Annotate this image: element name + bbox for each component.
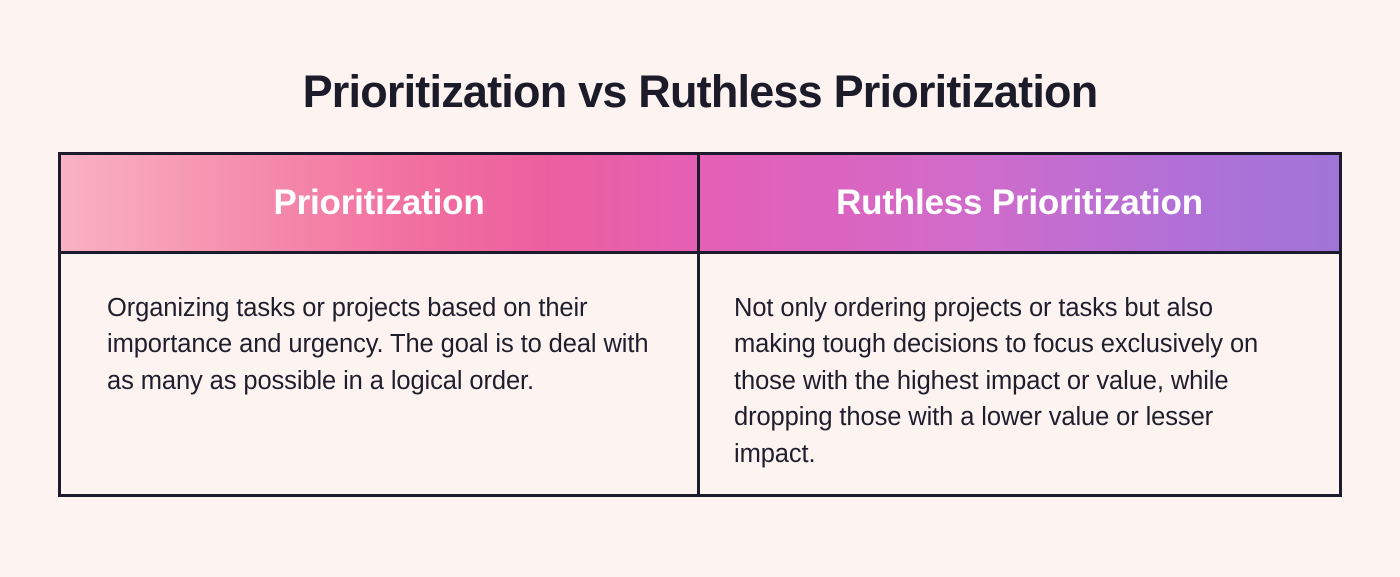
table-body-cell-prioritization: Organizing tasks or projects based on th… [61, 254, 700, 494]
page-title: Prioritization vs Ruthless Prioritizatio… [0, 68, 1400, 117]
table-header-label-ruthless-prioritization: Ruthless Prioritization [836, 184, 1203, 223]
table-body-text-ruthless-prioritization: Not only ordering projects or tasks but … [734, 290, 1294, 472]
table-body-row: Organizing tasks or projects based on th… [61, 254, 1339, 494]
table-body-cell-ruthless-prioritization: Not only ordering projects or tasks but … [700, 254, 1339, 494]
comparison-table: Prioritization Ruthless Prioritization O… [58, 152, 1342, 497]
table-header-cell-prioritization: Prioritization [61, 155, 700, 251]
table-header-row: Prioritization Ruthless Prioritization [61, 155, 1339, 254]
comparison-infographic: Prioritization vs Ruthless Prioritizatio… [0, 0, 1400, 577]
table-header-label-prioritization: Prioritization [273, 184, 484, 223]
table-header-cell-ruthless-prioritization: Ruthless Prioritization [700, 155, 1339, 251]
table-body-text-prioritization: Organizing tasks or projects based on th… [107, 290, 652, 399]
